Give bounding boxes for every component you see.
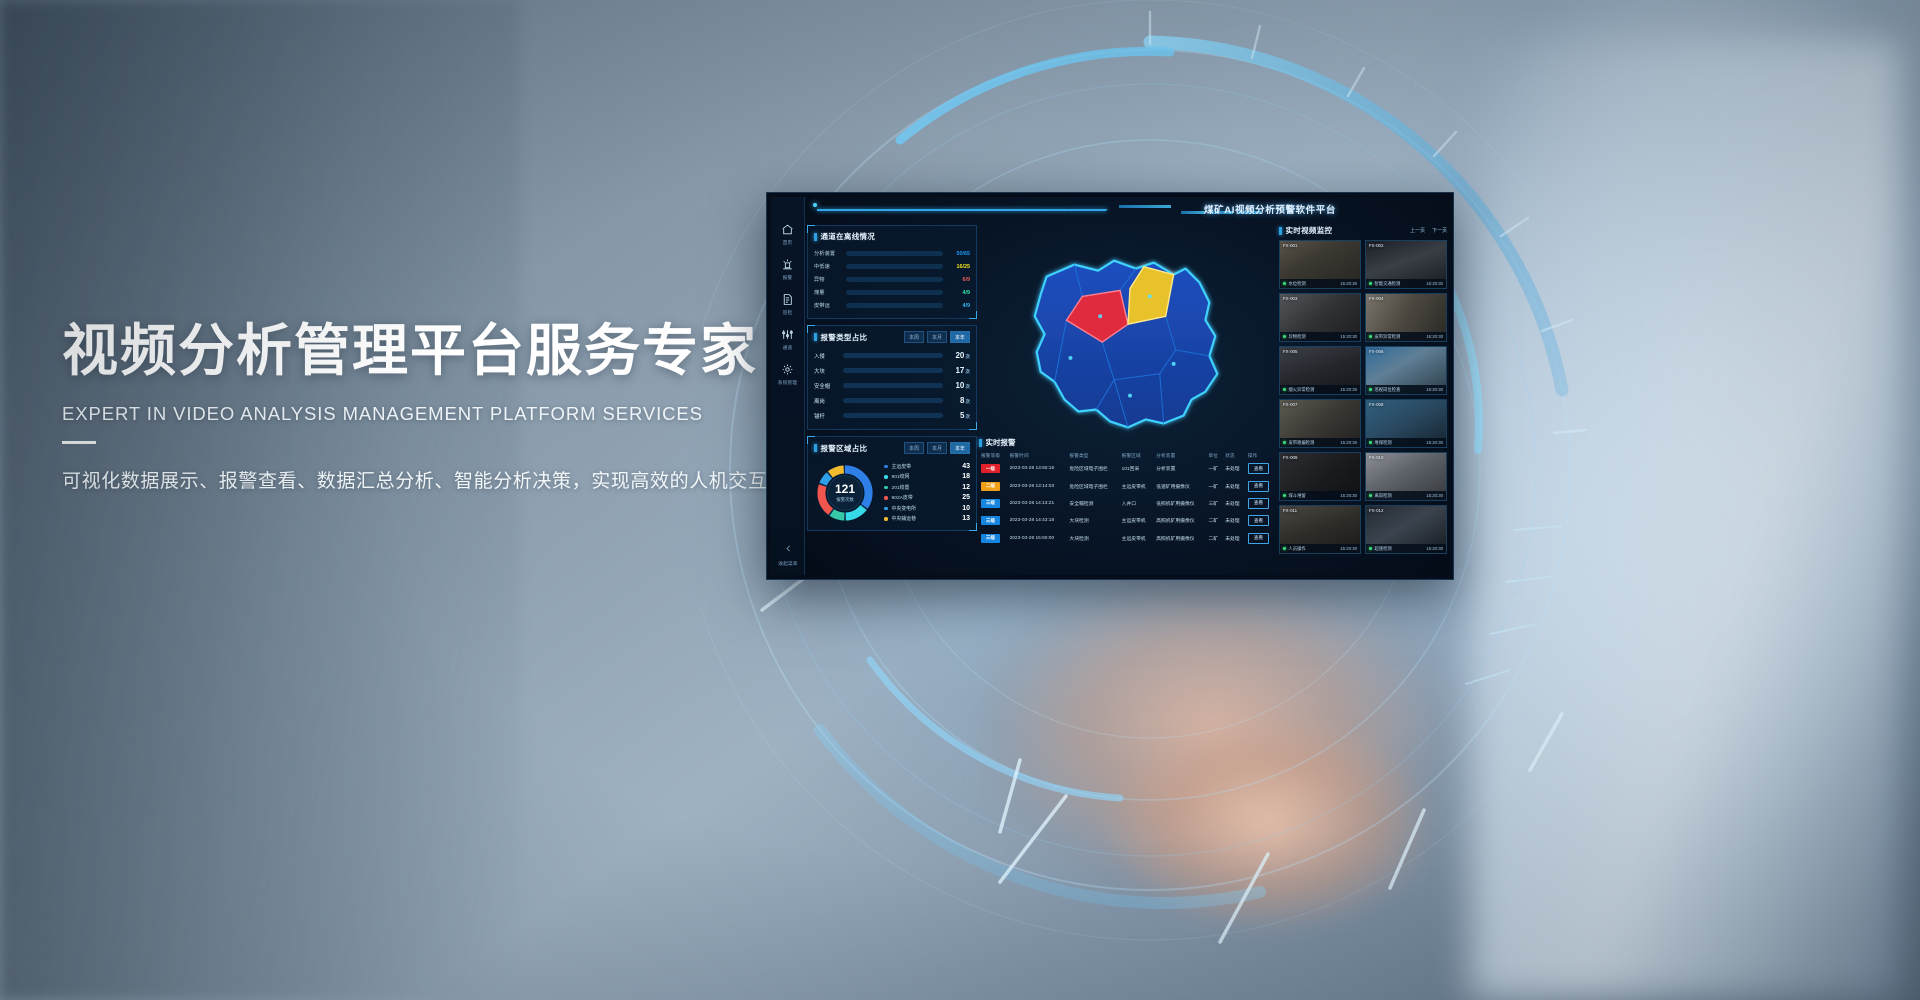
hero-banner: 视频分析管理平台服务专家 EXPERT IN VIDEO ANALYSIS MA…: [0, 0, 1920, 1000]
vignette-overlay: [0, 0, 1920, 1000]
